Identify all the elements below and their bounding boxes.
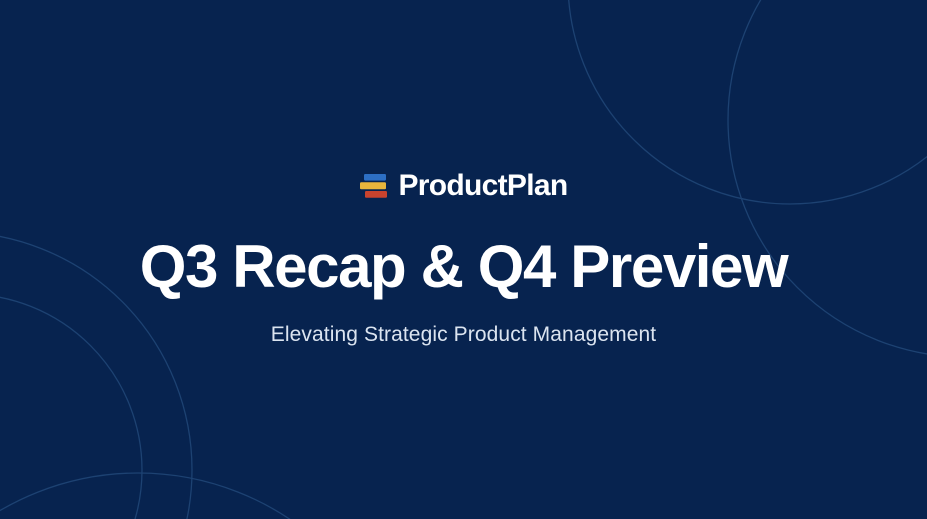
slide-content: ProductPlan Q3 Recap & Q4 Preview Elevat…: [0, 0, 927, 519]
productplan-logo: ProductPlan: [360, 171, 568, 201]
logo-bar-top: [364, 174, 386, 181]
logo-bar-middle: [360, 182, 386, 189]
slide-subtitle: Elevating Strategic Product Management: [271, 321, 657, 348]
productplan-bars-logo-icon: [360, 173, 390, 199]
productplan-wordmark: ProductPlan: [399, 171, 568, 201]
slide-title: Q3 Recap & Q4 Preview: [140, 235, 788, 299]
title-slide: ProductPlan Q3 Recap & Q4 Preview Elevat…: [0, 0, 927, 519]
logo-bar-bottom: [365, 191, 387, 198]
